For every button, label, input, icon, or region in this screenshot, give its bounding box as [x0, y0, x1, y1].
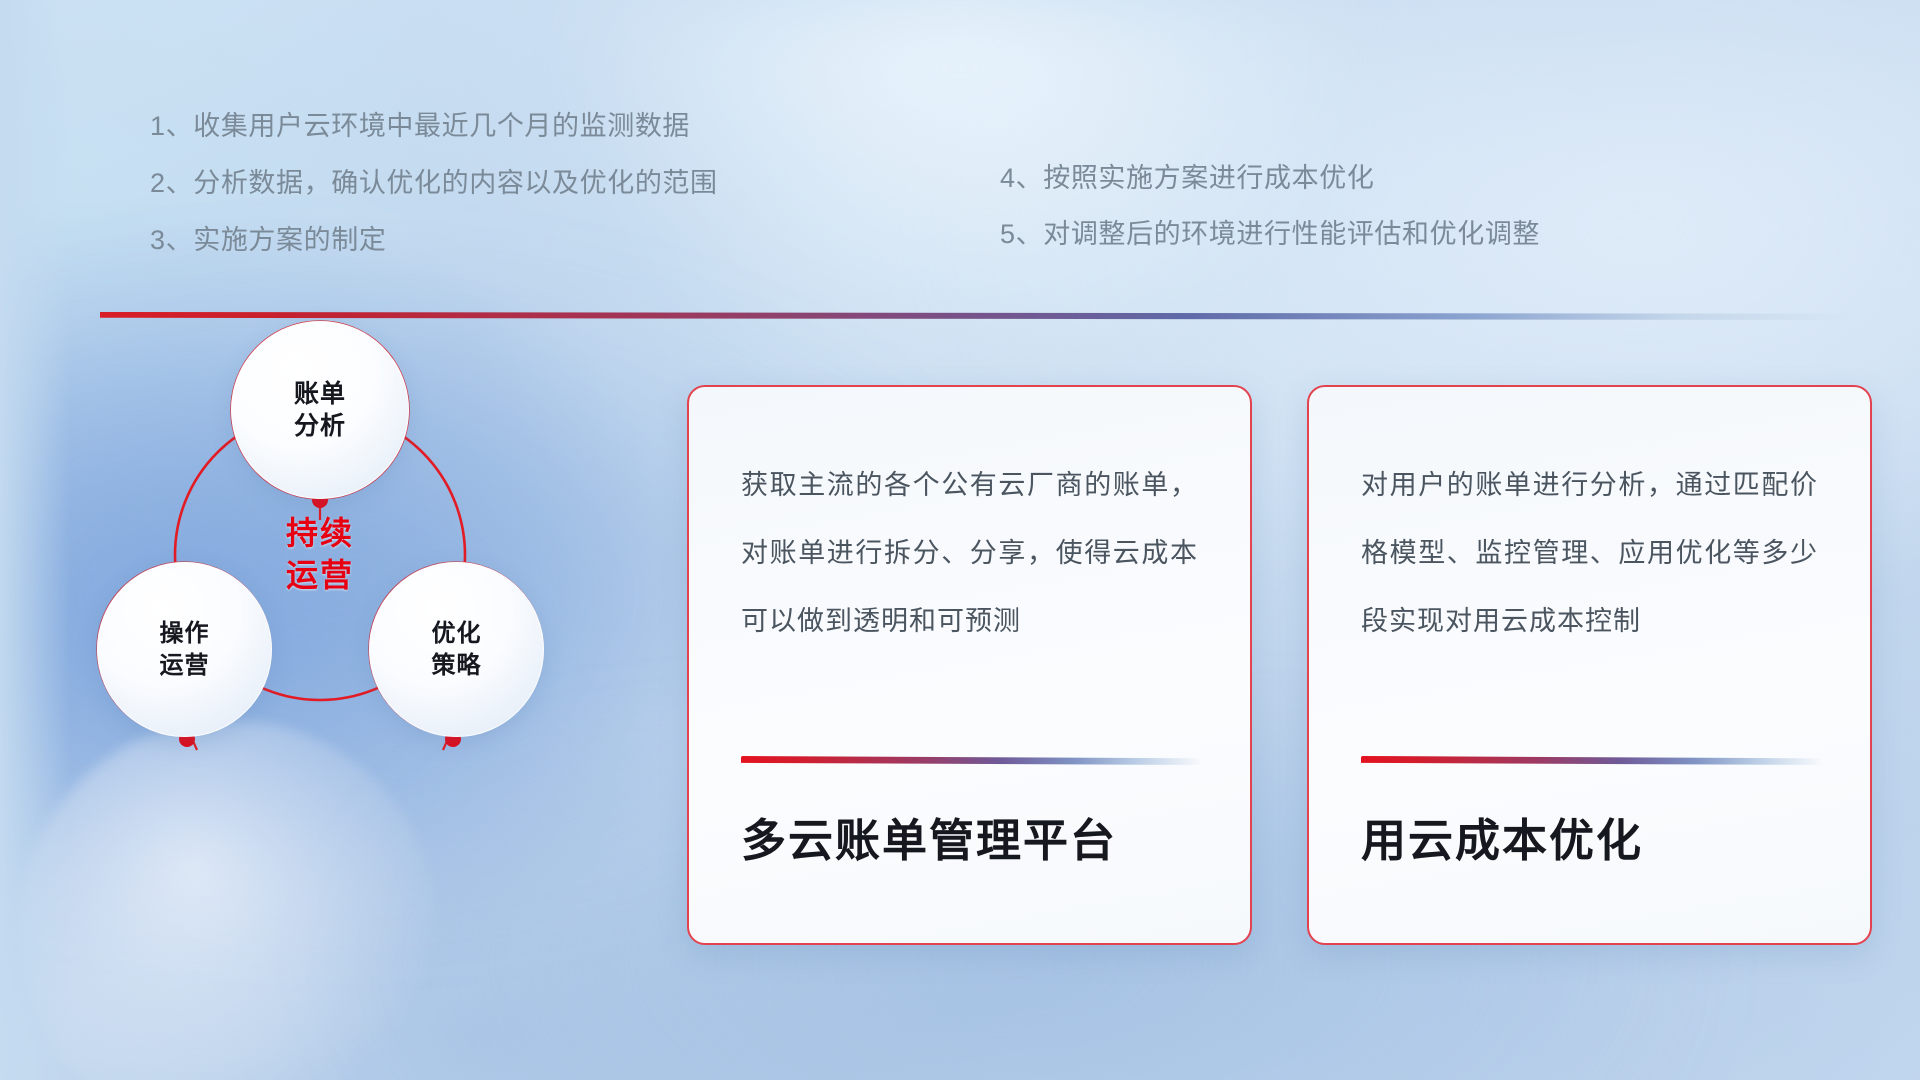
feature-card-2-title: 用云成本优化: [1361, 804, 1643, 869]
feature-card-2-body: 对用户的账单进行分析，通过匹配价格模型、监控管理、应用优化等多少段实现对用云成本…: [1309, 387, 1870, 655]
feature-card-1-body: 获取主流的各个公有云厂商的账单，对账单进行拆分、分享，使得云成本可以做到透明和可…: [689, 387, 1250, 655]
venn-node-left-line2: 运营: [160, 650, 210, 681]
venn-node-left-line1: 操作: [160, 618, 210, 649]
venn-node-billing-analysis[interactable]: 账单 分析: [231, 321, 409, 499]
steps-list-left: 1、收集用户云环境中最近几个月的监测数据 2、分析数据，确认优化的内容以及优化的…: [150, 98, 718, 269]
feature-card-cost-optimization[interactable]: 对用户的账单进行分析，通过匹配价格模型、监控管理、应用优化等多少段实现对用云成本…: [1307, 385, 1872, 945]
venn-node-top-line2: 分析: [294, 410, 346, 443]
feature-card-1-rule: [741, 756, 1203, 765]
step-item-5: 5、对调整后的环境进行性能评估和优化调整: [1000, 206, 1540, 262]
background-left-edge: [0, 0, 70, 1080]
step-item-2: 2、分析数据，确认优化的内容以及优化的范围: [150, 155, 718, 212]
venn-node-top-line1: 账单: [294, 378, 346, 411]
step-item-1: 1、收集用户云环境中最近几个月的监测数据: [150, 98, 718, 155]
venn-center-label: 持续 运营: [240, 495, 400, 615]
venn-diagram: 账单 分析 操作 运营 优化 策略 持续 运营: [85, 340, 555, 770]
venn-node-right-line2: 策略: [432, 650, 482, 681]
venn-center-line2: 运营: [286, 555, 354, 597]
step-item-3: 3、实施方案的制定: [150, 212, 718, 269]
steps-list-right: 4、按照实施方案进行成本优化 5、对调整后的环境进行性能评估和优化调整: [1000, 150, 1540, 262]
step-item-4: 4、按照实施方案进行成本优化: [1000, 150, 1540, 206]
feature-card-1-title: 多云账单管理平台: [741, 804, 1117, 869]
venn-center-line1: 持续: [286, 513, 354, 555]
venn-node-right-line1: 优化: [432, 618, 482, 649]
feature-card-2-rule: [1361, 756, 1823, 765]
feature-card-billing-platform[interactable]: 获取主流的各个公有云厂商的账单，对账单进行拆分、分享，使得云成本可以做到透明和可…: [687, 385, 1252, 945]
